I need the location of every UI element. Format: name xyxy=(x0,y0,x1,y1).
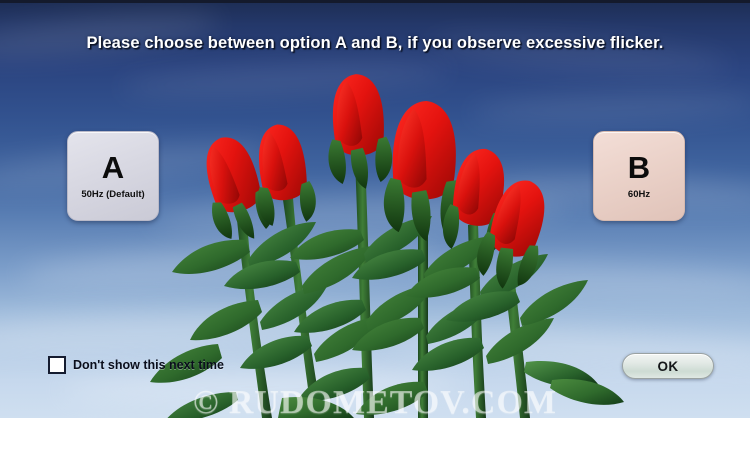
dialog-title: Please choose between option A and B, if… xyxy=(0,34,750,53)
option-b-sublabel: 60Hz xyxy=(628,190,650,200)
cloud-streak xyxy=(420,258,750,301)
dont-show-again-label: Don't show this next time xyxy=(73,358,224,372)
cloud-streak xyxy=(150,189,571,238)
flicker-adjust-dialog: © RUDOMETOV.COM Please choose between op… xyxy=(0,0,750,450)
cloud-streak xyxy=(60,369,460,406)
dont-show-again-checkbox[interactable] xyxy=(48,356,66,374)
cloud-streak xyxy=(0,305,361,358)
option-a-button[interactable]: A 50Hz (Default) xyxy=(67,131,159,221)
cloud-streak xyxy=(470,91,750,125)
cloud-streak xyxy=(120,57,451,100)
option-b-letter: B xyxy=(628,152,650,183)
ok-button[interactable]: OK xyxy=(622,353,714,379)
option-a-letter: A xyxy=(102,152,124,183)
option-b-button[interactable]: B 60Hz xyxy=(593,131,685,221)
dont-show-again-row[interactable]: Don't show this next time xyxy=(48,356,224,374)
ok-button-label: OK xyxy=(657,359,678,374)
cloud-streak xyxy=(19,235,440,293)
option-a-sublabel: 50Hz (Default) xyxy=(81,190,144,200)
top-border-rule xyxy=(0,0,750,3)
